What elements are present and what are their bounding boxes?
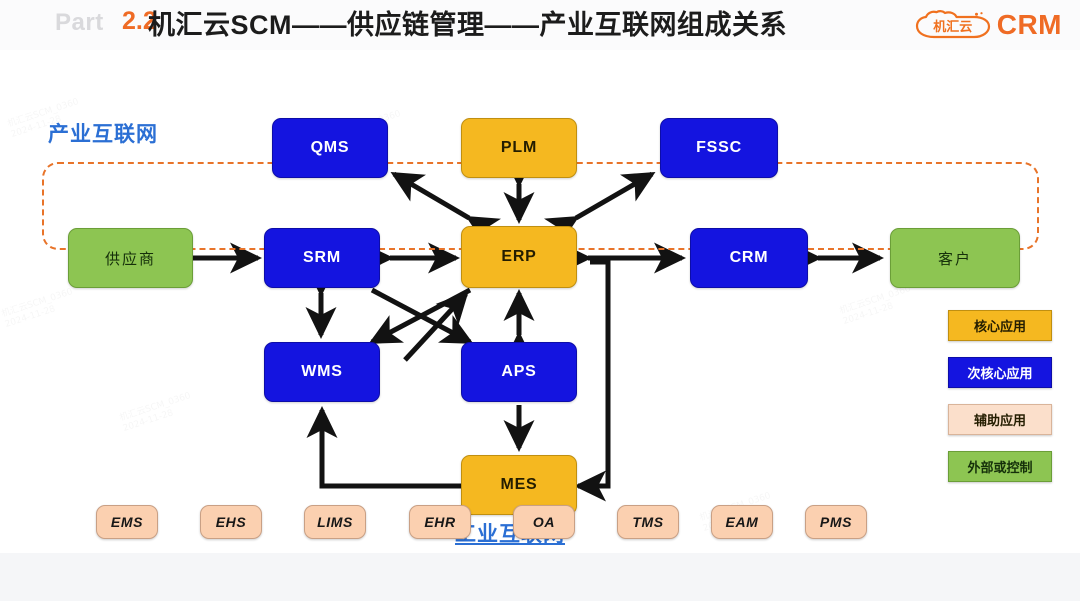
brand-logo: 机汇云 CRM (914, 6, 1062, 44)
legend-item-auxiliary[interactable]: 辅助应用 (948, 404, 1052, 435)
aux-pill-ehs[interactable]: EHS (200, 505, 262, 539)
watermark: 机汇云SCM_0360 2024-11-28 (838, 284, 915, 328)
legend-item-core[interactable]: 核心应用 (948, 310, 1052, 341)
slide-header: Part 2.2 机汇云SCM——供应链管理——产业互联网组成关系 机汇云 CR… (0, 0, 1080, 51)
aux-pill-eam[interactable]: EAM (711, 505, 773, 539)
aux-pill-pms[interactable]: PMS (805, 505, 867, 539)
node-customer[interactable]: 客户 (890, 228, 1020, 288)
aux-pill-tms[interactable]: TMS (617, 505, 679, 539)
node-wms[interactable]: WMS (264, 342, 380, 402)
slide-footer (0, 553, 1080, 601)
node-aps[interactable]: APS (461, 342, 577, 402)
aux-pill-lims[interactable]: LIMS (304, 505, 366, 539)
diagram-canvas: 机汇云SCM_0360 2024-11-28 机汇云SCM_0360 2024-… (0, 50, 1080, 553)
part-label: Part (55, 9, 104, 37)
aux-pill-ems[interactable]: EMS (96, 505, 158, 539)
aux-pill-oa[interactable]: OA (513, 505, 575, 539)
page-title: 机汇云SCM——供应链管理——产业互联网组成关系 (148, 3, 787, 42)
logo-chinese-text: 机汇云 (933, 16, 972, 35)
legend-item-external[interactable]: 外部或控制 (948, 451, 1052, 482)
cloud-outline-icon: 机汇云 (914, 10, 992, 40)
legend-item-secondary[interactable]: 次核心应用 (948, 357, 1052, 388)
node-crm[interactable]: CRM (690, 228, 808, 288)
aux-app-row: EMS EHS LIMS EHR OA TMS EAM PMS (96, 505, 896, 545)
node-erp[interactable]: ERP (461, 226, 577, 288)
watermark: 机汇云SCM_0360 2024-11-28 (0, 287, 77, 331)
logo-crm-text: CRM (997, 9, 1062, 41)
node-plm[interactable]: PLM (461, 118, 577, 178)
watermark: 机汇云SCM_0360 2024-11-28 (118, 391, 195, 435)
node-fssc[interactable]: FSSC (660, 118, 778, 178)
zone-label-industry-internet: 产业互联网 (48, 118, 158, 148)
node-srm[interactable]: SRM (264, 228, 380, 288)
slide-root: Part 2.2 机汇云SCM——供应链管理——产业互联网组成关系 机汇云 CR… (0, 0, 1080, 601)
node-supplier[interactable]: 供应商 (68, 228, 193, 288)
node-qms[interactable]: QMS (272, 118, 388, 178)
legend: 核心应用 次核心应用 辅助应用 外部或控制 (948, 310, 1052, 498)
aux-pill-ehr[interactable]: EHR (409, 505, 471, 539)
